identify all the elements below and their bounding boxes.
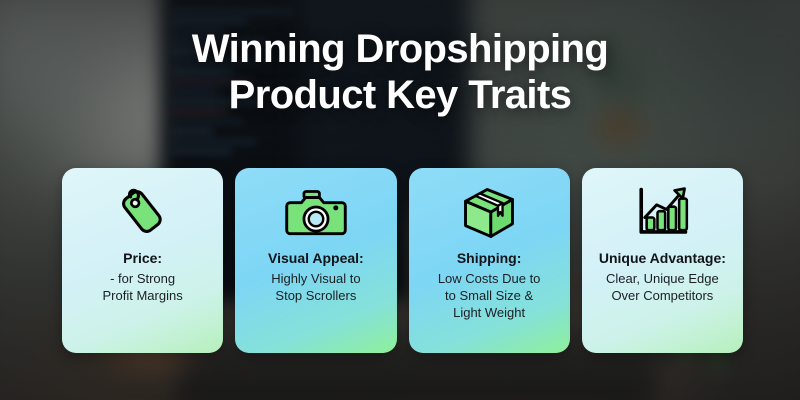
page-title: Winning Dropshipping Product Key Traits (0, 26, 800, 119)
trait-card-list: Price: - for Strong Profit Margins Visua… (62, 168, 743, 353)
desc-line: - for Strong (103, 270, 183, 287)
trait-card-description: Clear, Unique Edge Over Competitors (600, 270, 725, 304)
trait-card-description: - for Strong Profit Margins (97, 270, 189, 304)
trait-card-title: Price: (123, 250, 162, 266)
trait-card-visual-appeal[interactable]: Visual Appeal: Highly Visual to Stop Scr… (235, 168, 396, 353)
desc-line: to Small Size & (438, 287, 541, 304)
page-title-line-1: Winning Dropshipping (192, 27, 608, 71)
desc-line: Over Competitors (606, 287, 719, 304)
trait-card-unique-advantage[interactable]: Unique Advantage: Clear, Unique Edge Ove… (582, 168, 743, 353)
desc-line: Stop Scrollers (271, 287, 360, 304)
trait-card-description: Low Costs Due to to Small Size & Light W… (432, 270, 547, 321)
trait-card-title: Shipping: (457, 250, 522, 266)
desc-line: Low Costs Due to (438, 270, 541, 287)
shipping-box-icon (460, 180, 518, 246)
growth-chart-icon (633, 180, 691, 246)
trait-card-shipping[interactable]: Shipping: Low Costs Due to to Small Size… (409, 168, 570, 353)
price-tag-icon (114, 180, 172, 246)
page-title-line-2: Product Key Traits (0, 72, 800, 118)
trait-card-description: Highly Visual to Stop Scrollers (265, 270, 366, 304)
infographic-canvas: Winning Dropshipping Product Key Traits … (0, 0, 800, 400)
desc-line: Highly Visual to (271, 270, 360, 287)
desc-line: Light Weight (438, 304, 541, 321)
desc-line: Clear, Unique Edge (606, 270, 719, 287)
trait-card-title: Unique Advantage: (599, 250, 726, 266)
trait-card-title: Visual Appeal: (268, 250, 364, 266)
trait-card-price[interactable]: Price: - for Strong Profit Margins (62, 168, 223, 353)
desc-line: Profit Margins (103, 287, 183, 304)
camera-icon (285, 180, 347, 246)
